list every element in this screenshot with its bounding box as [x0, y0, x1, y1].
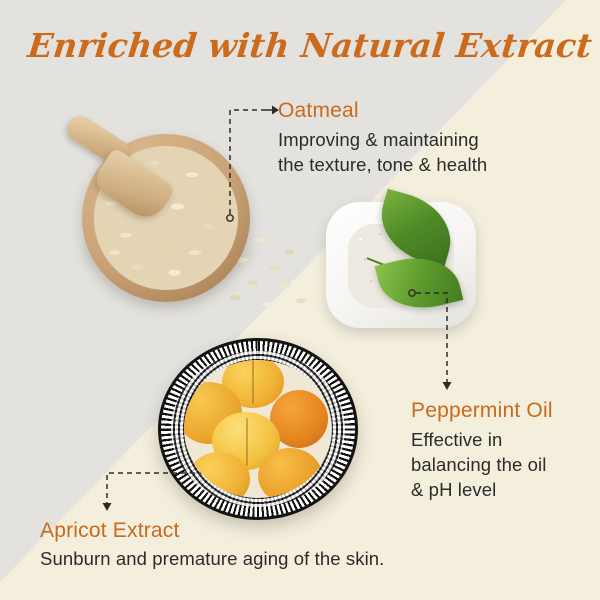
- peppermint-photo: [322, 196, 502, 338]
- apricot-bowl-interior: [184, 360, 332, 498]
- peppermint-desc-line: balancing the oil: [411, 452, 586, 477]
- apricot-label-title: Apricot Extract: [40, 519, 180, 543]
- apricot-desc-line: Sunburn and premature aging of the skin.: [40, 546, 460, 571]
- peppermint-label-title: Peppermint Oil: [411, 399, 553, 423]
- oatmeal-label-title: Oatmeal: [278, 99, 359, 123]
- apricot-label-description: Sunburn and premature aging of the skin.: [40, 546, 460, 571]
- page-title: Enriched with Natural Extract: [26, 26, 594, 65]
- poster-canvas: Enriched with Natural Extract: [0, 0, 600, 600]
- oatmeal-photo: [52, 112, 302, 312]
- oatmeal-desc-line: the texture, tone & health: [278, 152, 548, 177]
- oatmeal-label-description: Improving & maintaining the texture, ton…: [278, 127, 548, 177]
- apricot-photo: [158, 338, 364, 524]
- oatmeal-desc-line: Improving & maintaining: [278, 127, 548, 152]
- peppermint-desc-line: Effective in: [411, 427, 586, 452]
- apricot-fruit: [188, 452, 250, 498]
- apricot-fruit: [258, 448, 322, 498]
- peppermint-label-description: Effective in balancing the oil & pH leve…: [411, 427, 586, 502]
- peppermint-desc-line: & pH level: [411, 477, 586, 502]
